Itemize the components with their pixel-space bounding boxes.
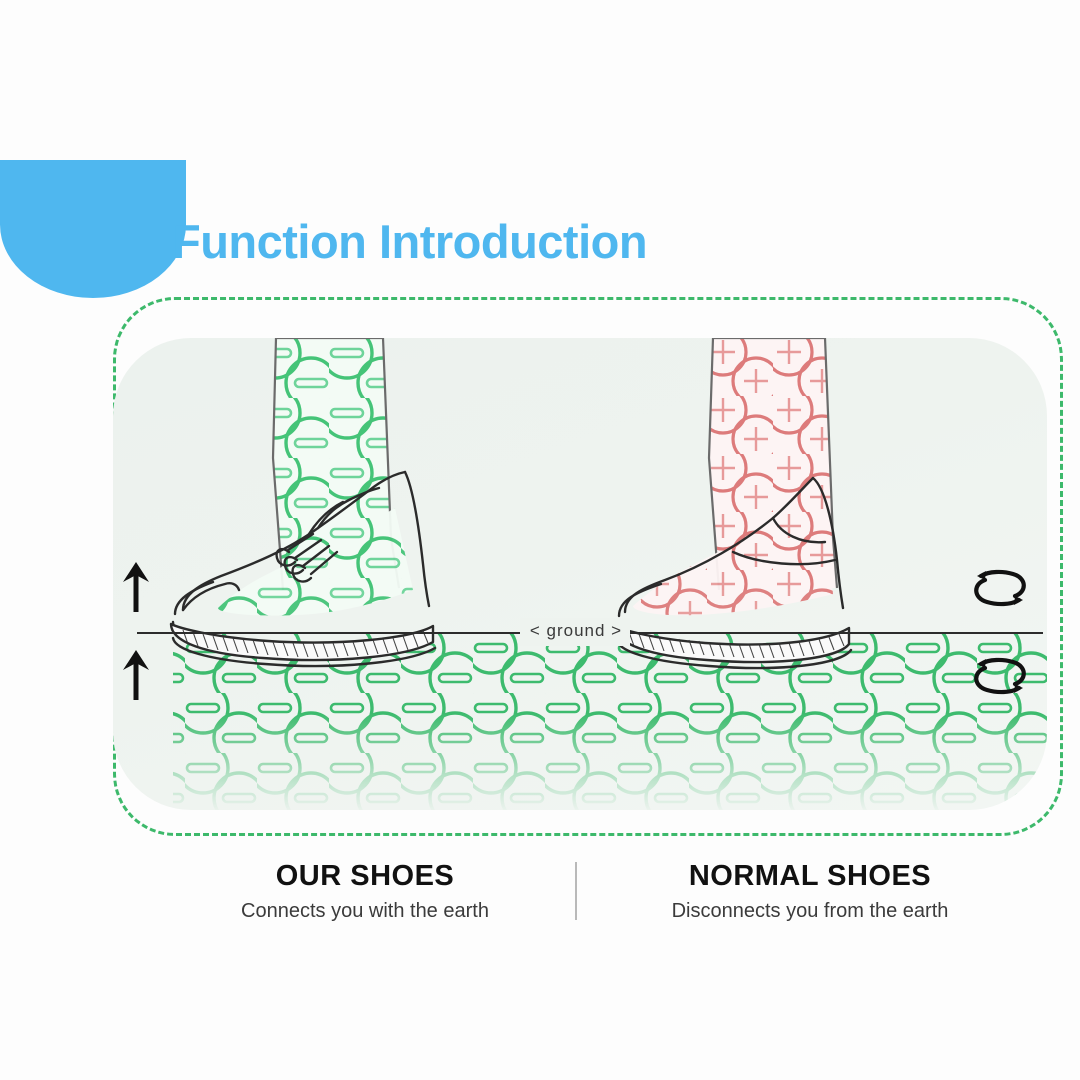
slide-canvas: Function Introduction (0, 0, 1080, 1080)
caption-normal-shoes: NORMAL SHOES Disconnects you from the ea… (580, 860, 1040, 923)
ground-label: < ground > (520, 621, 632, 641)
illustration-panel (113, 338, 1047, 810)
caption-title: OUR SHOES (135, 860, 595, 893)
cycle-arrows-icon (971, 650, 1029, 702)
arrow-up-icon (119, 648, 153, 700)
blue-half-disc-decoration (0, 160, 186, 298)
caption-subtitle: Connects you with the earth (135, 899, 595, 923)
illustration-svg (113, 338, 1047, 810)
arrow-up-icon (119, 560, 153, 612)
caption-subtitle: Disconnects you from the earth (580, 899, 1040, 923)
caption-our-shoes: OUR SHOES Connects you with the earth (135, 860, 595, 923)
cycle-arrows-icon (971, 562, 1029, 614)
caption-divider (575, 862, 577, 920)
page-title: Function Introduction (172, 214, 647, 269)
caption-title: NORMAL SHOES (580, 860, 1040, 893)
